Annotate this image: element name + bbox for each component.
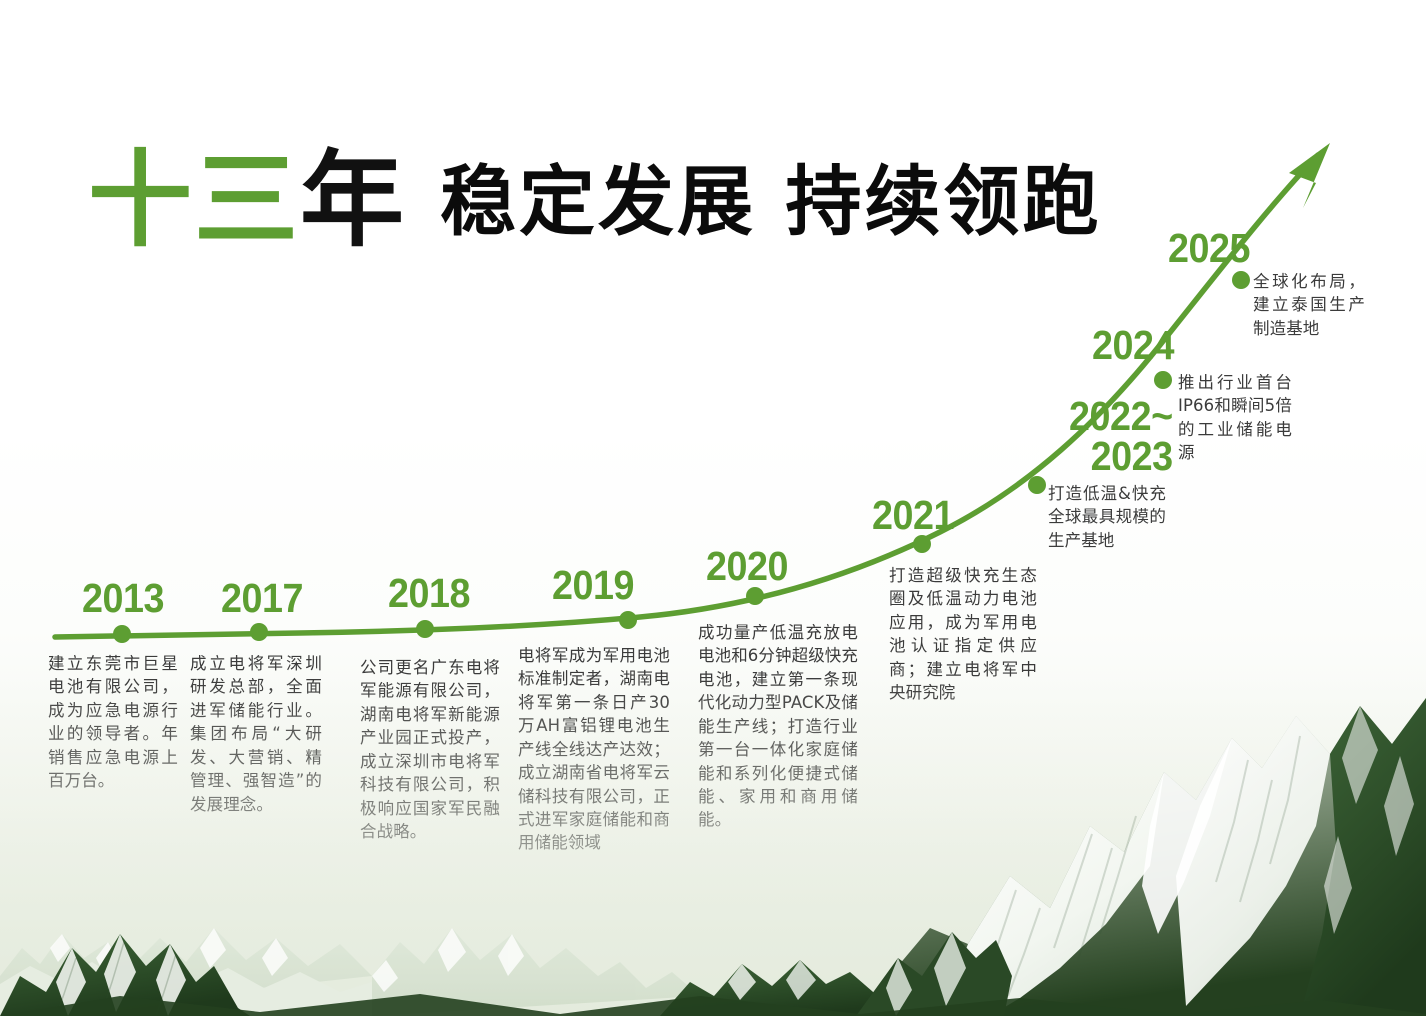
year-label-2025: 2025 [1168,228,1250,268]
main-massif [856,698,1426,1016]
milestone-description-2019: 电将军成为军用电池标准制定者，湖南电将军第一条日产30万AH富铝锂电池生产线全线… [518,644,670,855]
year-label-2024: 2024 [1092,325,1174,365]
year-label-2017: 2017 [221,578,303,618]
left-spire [0,934,250,1016]
arrow-up-right-icon [1289,143,1330,208]
milestone-description-2017: 成立电将军深圳研发总部，全面进军储能行业。集团布局“大研发、大营销、精管理、强智… [190,652,322,816]
timeline-node-2025[interactable] [1232,271,1250,289]
timeline-node-2024[interactable] [1154,371,1172,389]
year-label-2020: 2020 [706,546,788,586]
year-label-2021: 2021 [872,495,954,535]
milestone-description-2018: 公司更名广东电将军能源有限公司，湖南电将军新能源产业园正式投产，成立深圳市电将军… [360,656,500,843]
page-title: 十三年稳定发展 持续领跑 [88,148,1102,252]
milestone-description-2020: 成功量产低温充放电电池和6分钟超级快充电池，建立第一条现代化动力型PACK及储能… [698,621,858,832]
mid-ridge-left [660,960,930,1016]
title-green-text: 十三 [88,139,300,261]
year-label-2022--2023: 2022~ 2023 [1069,396,1173,476]
year-label-2013: 2013 [82,578,164,618]
milestone-description-2024: 推出行业首台IP66和瞬间5倍的工业储能电源 [1178,371,1292,465]
milestone-description-2013: 建立东莞市巨星电池有限公司，成为应急电源行业的领导者。年销售应急电源上百万台。 [48,652,178,793]
timeline-node-2019[interactable] [619,611,637,629]
milestone-description-2025: 全球化布局，建立泰国生产制造基地 [1253,270,1365,340]
foreground-ridge [0,994,1426,1016]
timeline-poster: 十三年稳定发展 持续领跑 2013建立东莞市巨星电池有限公司，成为应急电源行业的… [0,0,1426,1016]
timeline-node-2017[interactable] [250,623,268,641]
title-black-text: 年 [300,139,406,261]
year-label-2019: 2019 [552,565,634,605]
milestone-description-2021: 打造超级快充生态圈及低温动力电池应用，成为军用电池认证指定供应商；建立电将军中央… [889,564,1037,705]
title-subtitle: 稳定发展 持续领跑 [440,164,1101,240]
distant-range [0,928,700,1016]
timeline-node-2022--2023[interactable] [1028,476,1046,494]
timeline-node-2013[interactable] [113,625,131,643]
timeline-node-2020[interactable] [746,587,764,605]
year-label-2018: 2018 [388,573,470,613]
timeline-node-2018[interactable] [416,620,434,638]
milestone-description-2022--2023: 打造低温&快充全球最具规模的生产基地 [1048,482,1166,552]
